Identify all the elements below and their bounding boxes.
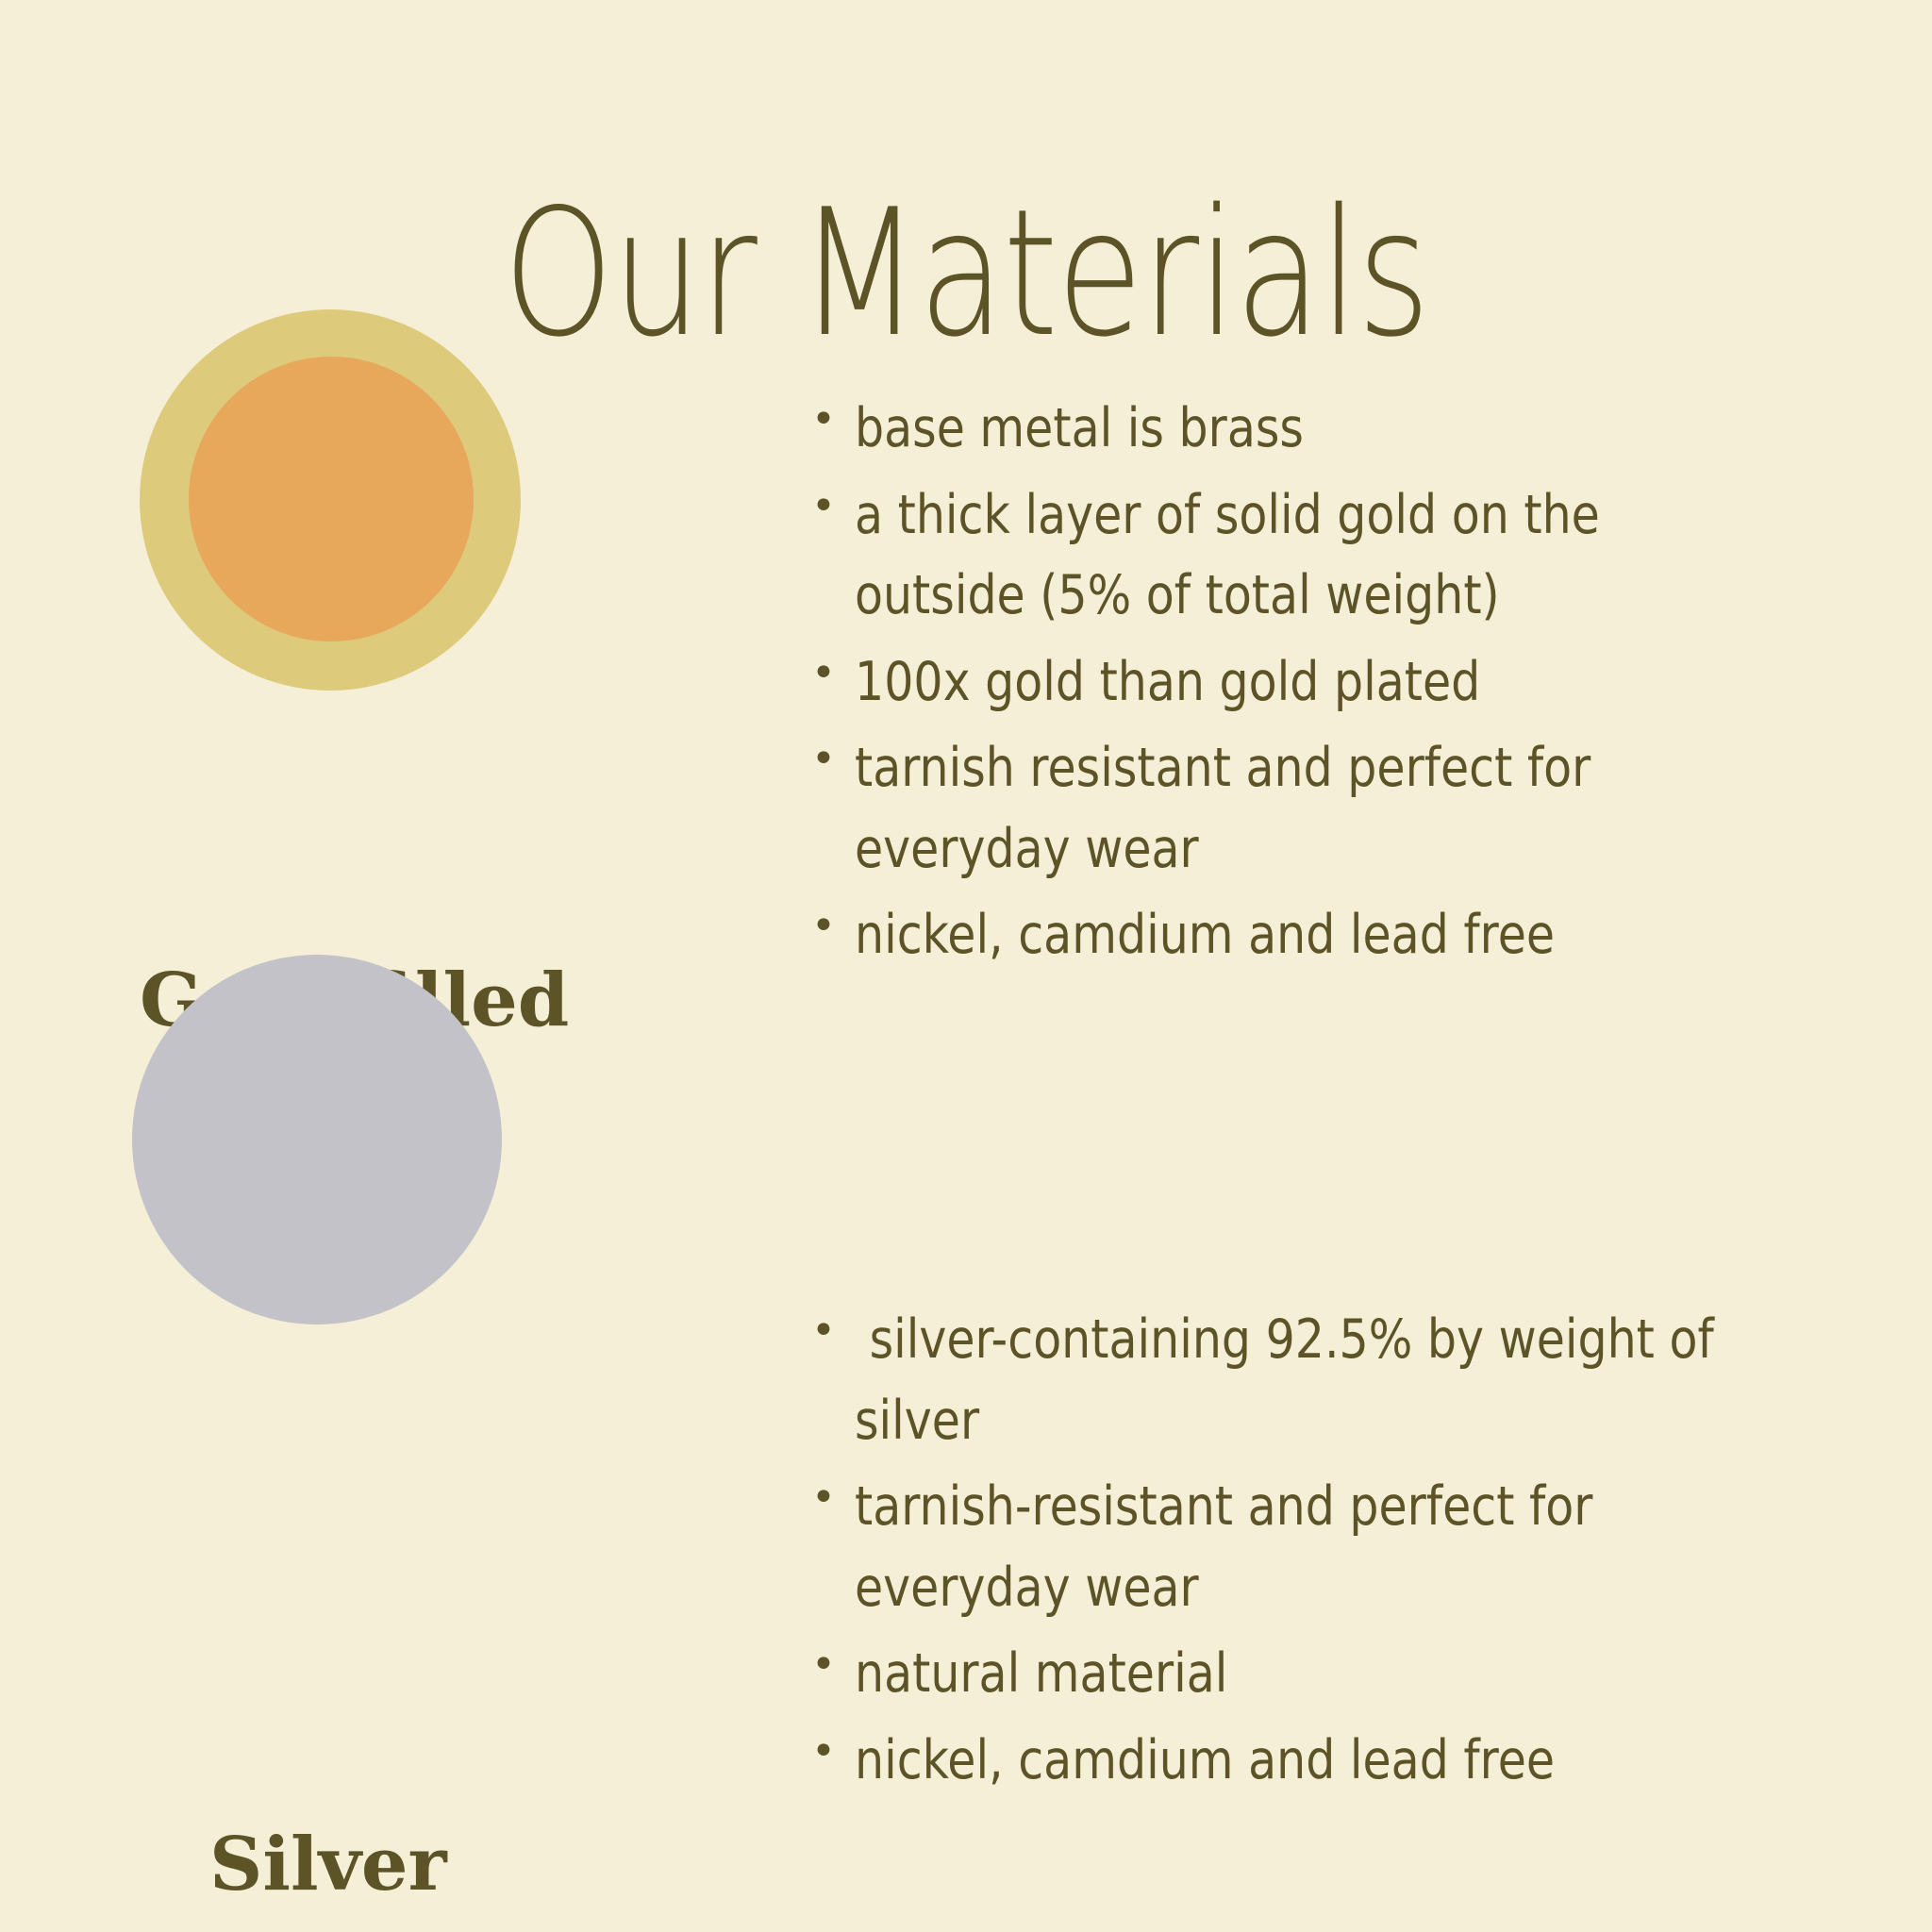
material-label-silver: Silver <box>209 1828 447 1902</box>
materials-infographic: Our Materials Gold-filled base metal is … <box>0 0 1932 1932</box>
list-item: tarnish resistant and perfect for everyd… <box>806 728 1862 890</box>
list-item: tarnish-resistant and perfect for everyd… <box>806 1467 1862 1628</box>
list-item: natural material <box>806 1634 1862 1715</box>
bullet-text: nickel, camdium and lead free <box>855 895 1555 976</box>
bullet-text: tarnish resistant and perfect for everyd… <box>855 728 1721 890</box>
gold-filled-inner-swatch-circle <box>189 357 474 641</box>
bullet-text: nickel, camdium and lead free <box>855 1721 1555 1802</box>
bullet-text: base metal is brass <box>855 389 1304 470</box>
bullet-text: a thick layer of solid gold on the outsi… <box>855 475 1721 637</box>
silver-bullet-list: silver-containing 92.5% by weight of sil… <box>806 1300 1862 1807</box>
list-item: nickel, camdium and lead free <box>806 895 1862 976</box>
list-item: base metal is brass <box>806 389 1862 470</box>
gold-filled-bullet-list: base metal is brass a thick layer of sol… <box>806 389 1862 982</box>
bullet-text: natural material <box>855 1634 1227 1715</box>
list-item: silver-containing 92.5% by weight of sil… <box>806 1300 1862 1461</box>
list-item: a thick layer of solid gold on the outsi… <box>806 475 1862 637</box>
silver-swatch-circle <box>132 955 502 1324</box>
list-item: nickel, camdium and lead free <box>806 1721 1862 1802</box>
bullet-text: tarnish-resistant and perfect for everyd… <box>855 1467 1721 1628</box>
bullet-text: silver-containing 92.5% by weight of sil… <box>855 1300 1721 1461</box>
list-item: 100x gold than gold plated <box>806 642 1862 724</box>
bullet-text: 100x gold than gold plated <box>855 642 1480 724</box>
